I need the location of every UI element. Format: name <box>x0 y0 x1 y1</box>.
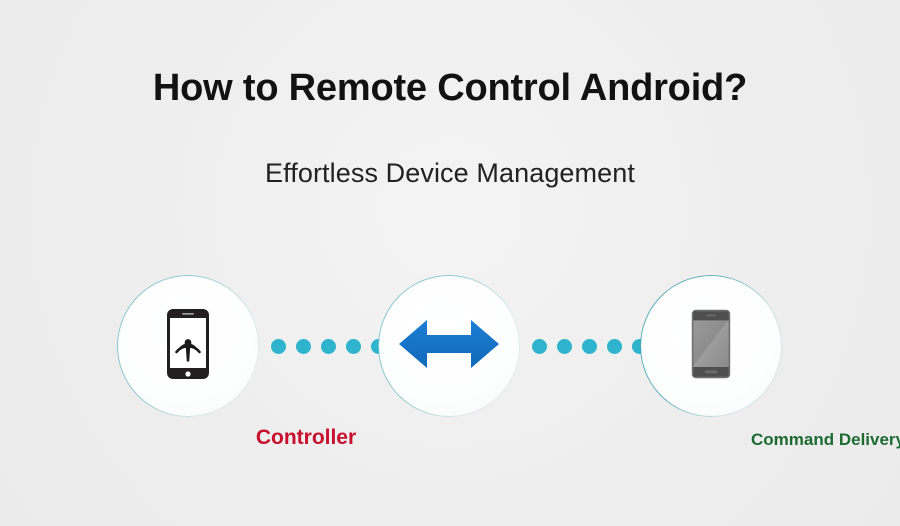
diagram-node-command-delivery[interactable]: Command Delivery <box>379 276 519 416</box>
smartphone-broadcast-icon <box>166 308 210 385</box>
smartphone-icon <box>691 309 731 384</box>
connector-controller-to-delivery <box>271 338 386 354</box>
connector-dot <box>607 339 622 354</box>
page-title: How to Remote Control Android? <box>0 68 900 110</box>
command-delivery-icon-holder <box>379 276 519 416</box>
node-label-command-delivery: Command Delivery <box>718 430 900 450</box>
connector-dot <box>582 339 597 354</box>
diagram-node-executor[interactable]: Executor <box>641 276 781 416</box>
double-arrow-icon <box>397 314 501 379</box>
executor-icon-holder <box>641 276 781 416</box>
connector-dot <box>296 339 311 354</box>
node-label-controller: Controller <box>186 426 426 450</box>
connector-dot <box>346 339 361 354</box>
page-subtitle: Effortless Device Management <box>0 158 900 189</box>
connector-dot <box>532 339 547 354</box>
connector-dot <box>271 339 286 354</box>
connector-delivery-to-executor <box>532 338 647 354</box>
diagram-node-controller[interactable]: Controller <box>118 276 258 416</box>
controller-icon-holder <box>118 276 258 416</box>
connector-dot <box>557 339 572 354</box>
flow-diagram: Controller <box>0 276 900 476</box>
poster-canvas: How to Remote Control Android? Effortles… <box>0 0 900 526</box>
connector-dot <box>321 339 336 354</box>
